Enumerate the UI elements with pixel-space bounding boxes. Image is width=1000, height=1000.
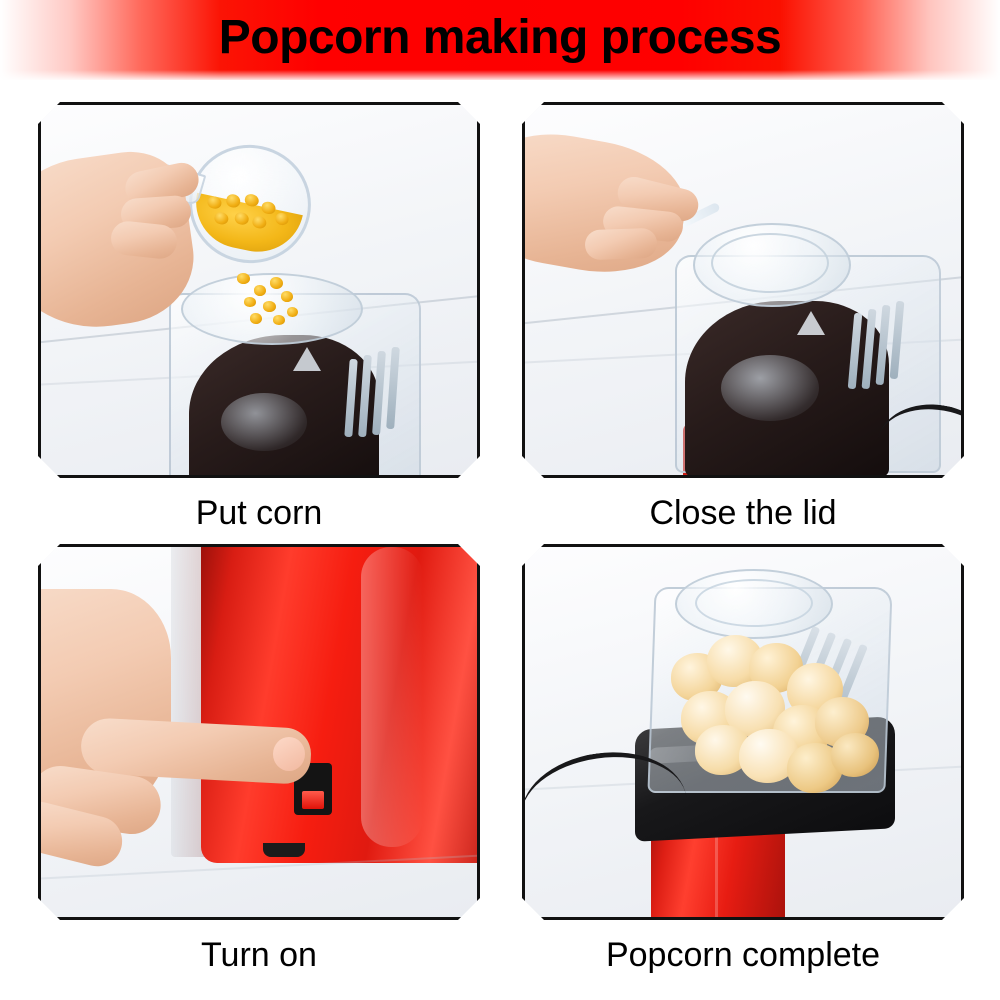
photo-frame-put-corn (38, 102, 480, 478)
corn-kernel (281, 291, 293, 302)
machine-foot (263, 843, 305, 857)
caption-popcorn-complete: Popcorn complete (522, 938, 964, 972)
thumb (584, 228, 657, 260)
panel-popcorn-complete: Popcorn complete (522, 544, 964, 972)
photo-put-corn (41, 105, 477, 475)
panel-close-the-lid: Close the lid (522, 102, 964, 530)
caption-put-corn: Put corn (38, 496, 480, 530)
popcorn-process-infographic: Popcorn making process (0, 0, 1000, 1000)
header-banner: Popcorn making process (0, 0, 1000, 80)
photo-frame-turn-on (38, 544, 480, 920)
machine-body-highlight (361, 547, 423, 847)
clear-top-cap-inner (695, 579, 813, 627)
panel-turn-on: Turn on (38, 544, 480, 972)
panel-put-corn: Put corn (38, 102, 480, 530)
photo-popcorn-complete (525, 547, 961, 917)
machine-chamber-highlight (221, 393, 307, 451)
fingernail (273, 737, 305, 771)
page-title: Popcorn making process (219, 14, 782, 62)
power-switch-rocker[interactable] (302, 791, 324, 809)
photo-close-the-lid (525, 105, 961, 475)
corn-kernel (244, 297, 256, 307)
corn-kernel (250, 313, 262, 324)
caption-close-the-lid: Close the lid (522, 496, 964, 530)
photo-frame-popcorn-complete (522, 544, 964, 920)
clear-cap-inner-ring (711, 233, 829, 293)
caption-turn-on: Turn on (38, 938, 480, 972)
corn-kernel (270, 277, 283, 289)
photo-frame-close-the-lid (522, 102, 964, 478)
machine-chamber-highlight (721, 355, 819, 421)
corn-kernel (263, 301, 276, 312)
measuring-cup (178, 134, 322, 275)
corn-kernel (254, 285, 266, 296)
hot-surface-warning-icon (797, 311, 825, 335)
machine-body (201, 547, 477, 863)
corn-kernel (273, 315, 285, 325)
photo-turn-on (41, 547, 477, 917)
panel-grid: Put corn (38, 102, 964, 972)
corn-kernel (287, 307, 298, 317)
corn-kernel (237, 273, 250, 284)
hot-surface-warning-icon (293, 347, 321, 371)
